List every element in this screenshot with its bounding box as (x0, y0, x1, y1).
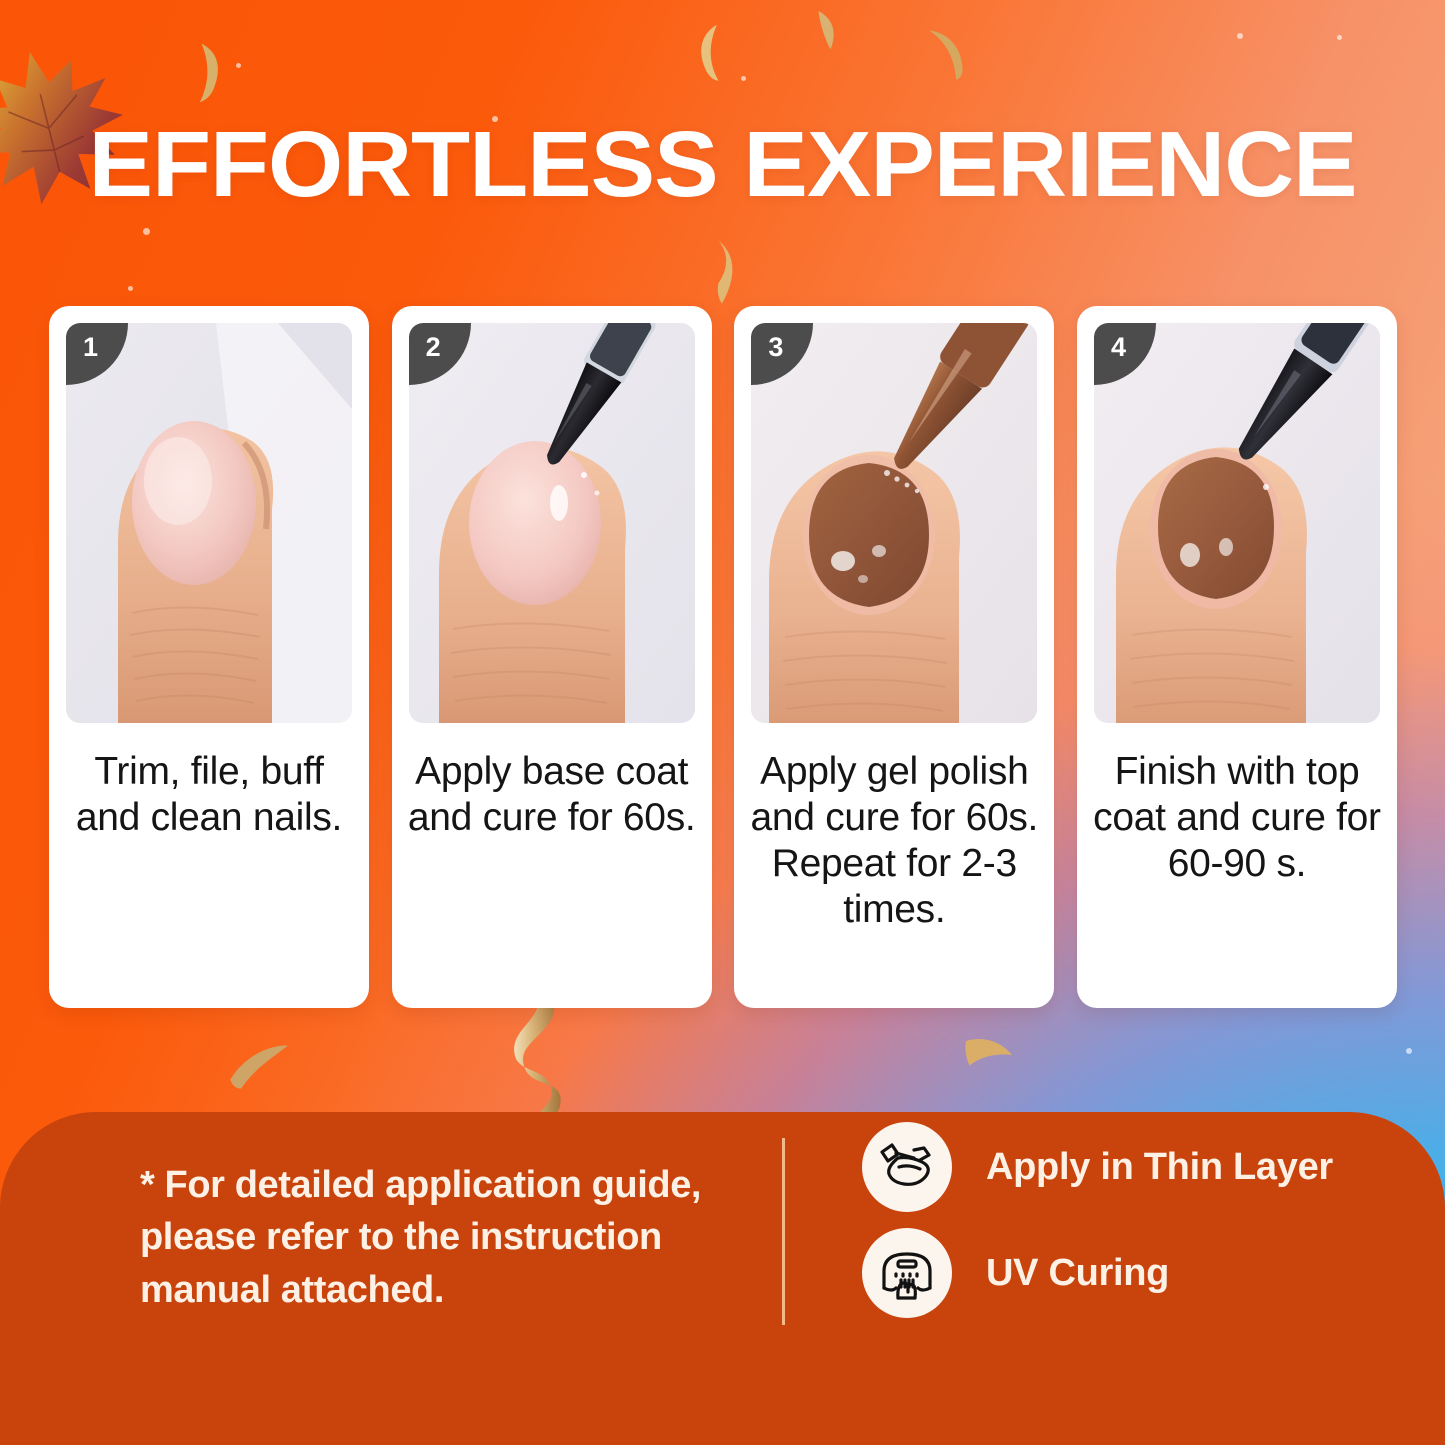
step-caption: Finish with top coat and cure for 60-90 … (1077, 723, 1397, 1008)
feature-uv-curing: UV Curing (862, 1228, 1333, 1318)
footer-note: * For detailed application guide, please… (140, 1159, 740, 1316)
step-caption: Apply base coat and cure for 60s. (392, 723, 712, 1008)
confetti-dot (236, 63, 241, 68)
footer-features: Apply in Thin Layer (862, 1122, 1333, 1318)
step-photo: 2 (409, 323, 695, 723)
feature-label: UV Curing (986, 1252, 1169, 1295)
step-photo: 4 (1094, 323, 1380, 723)
brush-thin-layer-icon (862, 1122, 952, 1212)
confetti-ribbon (688, 22, 722, 82)
confetti-ribbon (196, 42, 232, 104)
step-photo: 1 (66, 323, 352, 723)
confetti-ribbon (962, 1034, 1016, 1078)
confetti-ribbon (926, 26, 966, 82)
confetti-dot (741, 76, 746, 81)
step-card[interactable]: 2 Apply base coat and cure for 60s. (392, 306, 712, 1008)
step-caption: Trim, file, buff and clean nails. (49, 723, 369, 1008)
feature-label: Apply in Thin Layer (986, 1146, 1333, 1189)
confetti-dot (128, 286, 133, 291)
footer-panel: * For detailed application guide, please… (0, 1112, 1445, 1445)
step-photo: 3 (751, 323, 1037, 723)
steps-row: 1 Trim, file, buff and clean nails. (49, 306, 1397, 1008)
confetti-ribbon (815, 8, 841, 54)
confetti-dot (143, 228, 150, 235)
uv-lamp-curing-icon (862, 1228, 952, 1318)
feature-apply-thin-layer: Apply in Thin Layer (862, 1122, 1333, 1212)
footer-divider (782, 1138, 785, 1325)
step-caption: Apply gel polish and cure for 60s. Repea… (734, 723, 1054, 1008)
confetti-dot (1337, 35, 1342, 40)
confetti-ribbon (710, 238, 744, 308)
confetti-dot (1237, 33, 1243, 39)
page-title: EFFORTLESS EXPERIENCE (0, 118, 1445, 211)
step-card[interactable]: 4 Finish with top coat and cure for 60-9… (1077, 306, 1397, 1008)
confetti-ribbon (228, 1040, 292, 1094)
step-card[interactable]: 3 Apply gel polish and cure for 60s. Rep… (734, 306, 1054, 1008)
infographic-root: EFFORTLESS EXPERIENCE (0, 0, 1445, 1445)
confetti-dot (1406, 1048, 1412, 1054)
step-card[interactable]: 1 Trim, file, buff and clean nails. (49, 306, 369, 1008)
